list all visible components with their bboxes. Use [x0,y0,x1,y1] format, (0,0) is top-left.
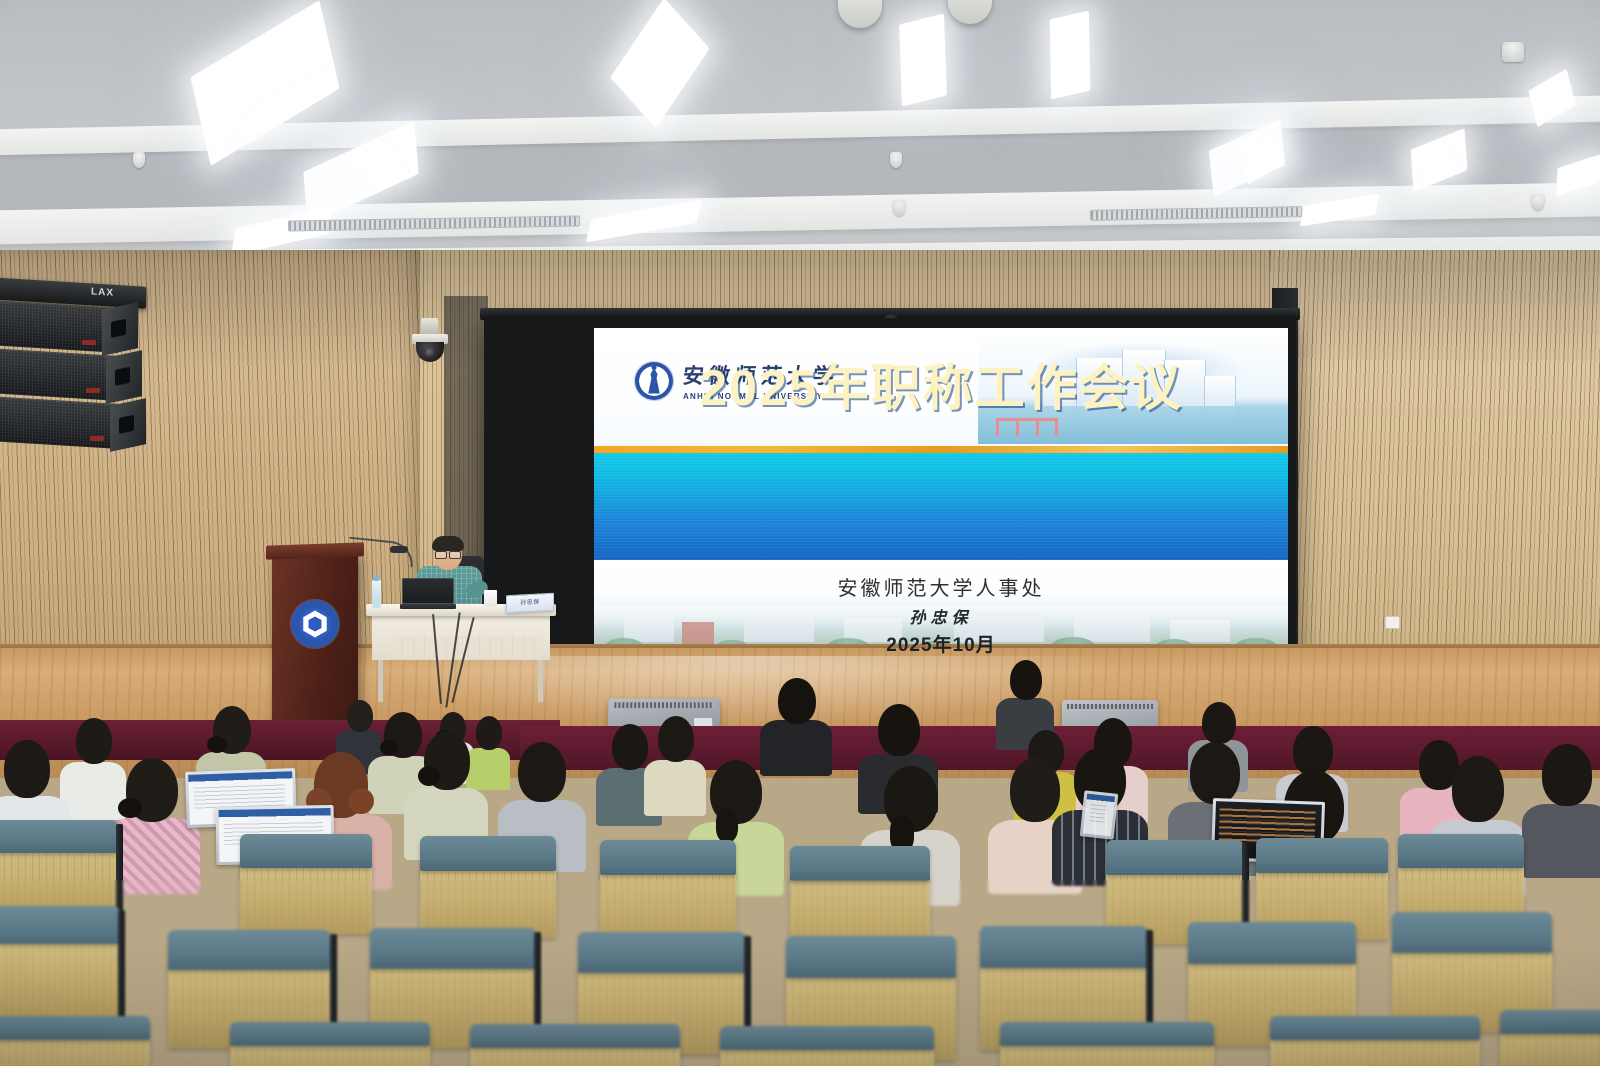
eyeglasses-icon [435,551,461,557]
slide-department: 安徽师范大学人事处 [594,572,1288,601]
person-head [778,678,816,724]
seat-back [240,862,372,934]
seat-headrest [470,1024,680,1048]
audience-laptop[interactable] [1080,790,1119,839]
auditorium-seat[interactable] [1500,1010,1600,1066]
seat-back [1270,1036,1480,1066]
smoke-detector [1502,42,1524,62]
hair-bun [118,798,142,818]
hair-bun [207,736,227,753]
slide-date: 2025年10月 [594,630,1288,657]
seat-headrest [790,846,930,881]
paper-cup [484,590,497,607]
seat-headrest [1392,912,1552,953]
sprinkler-head [890,152,902,168]
speaker-badge [82,340,96,345]
auditorium-photo: LAX [0,0,1600,1066]
slide-footer: 安徽师范大学人事处 孙忠保 2025年10月 [594,560,1288,658]
seat-headrest [168,930,330,970]
seat-headrest [230,1022,430,1046]
seat-headrest [1270,1016,1480,1040]
laptop-base [400,604,456,609]
auditorium-seat[interactable] [0,906,120,1018]
speaker-module [0,348,118,401]
seat-headrest [600,840,736,875]
person-head [1202,702,1236,744]
audience-member [760,678,832,772]
auditorium-seat[interactable] [790,846,930,950]
seat-headrest [420,836,556,871]
seat-headrest [1106,840,1244,875]
lectern-podium [272,552,358,722]
seat-headrest [578,932,746,973]
auditorium-seat[interactable] [1000,1022,1214,1066]
auditorium-seat[interactable] [1270,1016,1480,1066]
speaker-side-panel [102,302,138,356]
seat-divider [116,824,123,918]
person-head [1293,726,1333,776]
auditorium-seat[interactable] [0,820,118,918]
seat-back [600,869,736,942]
seat-headrest [1500,1010,1600,1034]
laptop-lid [402,578,454,604]
speaker-badge [86,388,100,393]
speaker-side-panel [110,398,146,452]
ponytail [716,808,738,842]
seat-headrest [0,906,120,944]
line-array-speaker: LAX [0,282,150,462]
seat-back [1500,1030,1600,1066]
seat-headrest [1256,838,1388,873]
speaker-grille [1067,704,1153,709]
speaker-side-panel [106,350,142,404]
speaker-brand-label: LAX [91,286,114,298]
person-head [4,740,50,798]
ceiling-light [899,14,946,107]
seat-back [0,1036,150,1066]
seat-headrest [240,834,372,868]
hair-curl [348,788,374,814]
auditorium-seat[interactable] [240,834,372,934]
person-head [1010,660,1042,700]
nameplate-text: 孙忠保 [507,596,553,607]
desk-front-panel [372,616,550,660]
seat-headrest [786,936,956,978]
laptop-screen [1083,794,1115,837]
water-bottle [372,580,381,608]
seat-headrest [0,820,118,853]
desk-nameplate: 孙忠保 [506,593,554,614]
podium-emblem-icon [291,600,339,648]
person-head [612,724,648,770]
desk-leg [538,660,543,702]
presenter-hair [432,536,464,551]
sprinkler-head [893,200,905,216]
presenter-desk [366,604,556,700]
auditorium-seat[interactable] [230,1022,430,1066]
person-head [658,716,694,762]
hair-bun [418,766,440,786]
presentation-slide: 安徽师范大学 ANHUI NORMAL UNIVERSITY 2025年职称工作… [594,328,1288,658]
speaker-badge [90,436,104,441]
seat-headrest [370,928,536,969]
speaker-grille [614,702,713,708]
microphone-head [390,546,408,553]
person-head [1190,742,1240,804]
person-head [1452,756,1504,822]
seat-divider [118,910,125,1018]
sprinkler-head [1532,194,1544,210]
seat-headrest [720,1026,934,1050]
seat-headrest [1000,1022,1214,1046]
seat-headrest [0,1016,150,1040]
presenter-laptop[interactable] [400,578,456,608]
screen-surface: 安徽师范大学 ANHUI NORMAL UNIVERSITY 2025年职称工作… [594,328,1288,658]
person-head [878,704,920,756]
seat-headrest [1398,834,1524,868]
slide-title-band [594,453,1288,560]
projection-screen: 安徽师范大学 ANHUI NORMAL UNIVERSITY 2025年职称工作… [484,318,1296,666]
seat-back [420,865,556,938]
seat-back [0,937,120,1018]
gold-divider [594,446,1288,453]
ptz-dome-camera [412,318,448,362]
slide-presenter-name: 孙忠保 [594,604,1288,628]
auditorium-seat[interactable] [420,836,556,938]
wall-outlet[interactable] [1385,616,1400,629]
slide-title: 2025年职称工作会议 [594,348,1288,420]
auditorium-seat[interactable] [720,1026,934,1066]
camera-dome [416,342,444,362]
speaker-module [0,300,118,353]
auditorium-seat[interactable] [600,840,736,942]
person-torso [1522,804,1600,878]
seat-headrest [980,926,1148,968]
person-head [518,742,566,802]
seat-headrest [1188,922,1356,964]
person-head [1542,744,1592,806]
desk-leg [378,660,383,702]
auditorium-seat[interactable] [470,1024,680,1066]
auditorium-seat[interactable] [0,1016,150,1066]
audience-member [1522,744,1600,874]
ceiling-light [1050,11,1090,100]
sprinkler-head [133,152,145,168]
